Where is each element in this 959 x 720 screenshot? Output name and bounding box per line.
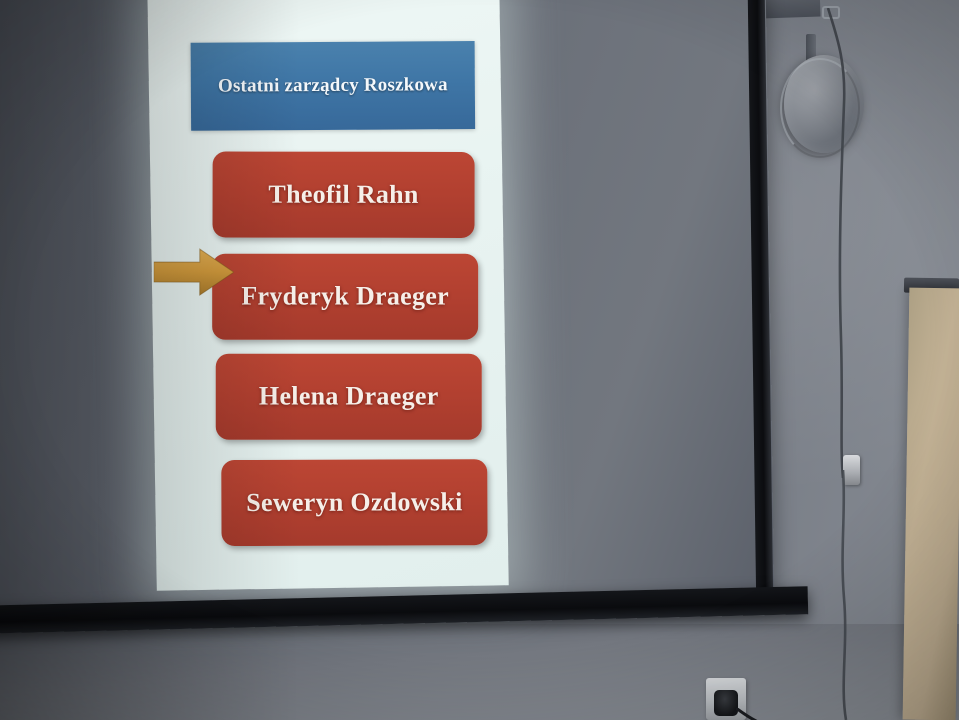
list-item-label: Fryderyk Draeger bbox=[241, 282, 449, 312]
list-item-label: Helena Draeger bbox=[259, 382, 439, 412]
list-item: Helena Draeger bbox=[216, 354, 482, 440]
cable-icon-lower bbox=[810, 470, 870, 720]
plug-cord-icon bbox=[736, 708, 766, 720]
slide-title-box: Ostatni zarządcy Roszkowa bbox=[191, 41, 476, 131]
slide-title-text: Ostatni zarządcy Roszkowa bbox=[218, 74, 448, 97]
slide-content: Ostatni zarządcy Roszkowa Theofil Rahn F… bbox=[147, 0, 508, 591]
list-item: Theofil Rahn bbox=[212, 152, 474, 238]
list-item-highlighted: Fryderyk Draeger bbox=[212, 254, 478, 340]
hanging-banner-icon bbox=[903, 288, 959, 720]
cable-icon bbox=[816, 8, 858, 478]
list-item-label: Seweryn Ozdowski bbox=[246, 487, 463, 518]
presentation-slide: Ostatni zarządcy Roszkowa Theofil Rahn F… bbox=[147, 0, 508, 591]
power-outlet-plug bbox=[714, 690, 738, 716]
list-item-label: Theofil Rahn bbox=[268, 180, 418, 210]
arrow-right-icon bbox=[154, 248, 234, 296]
photo-scene: Ostatni zarządcy Roszkowa Theofil Rahn F… bbox=[0, 0, 959, 720]
list-item: Seweryn Ozdowski bbox=[221, 459, 487, 546]
